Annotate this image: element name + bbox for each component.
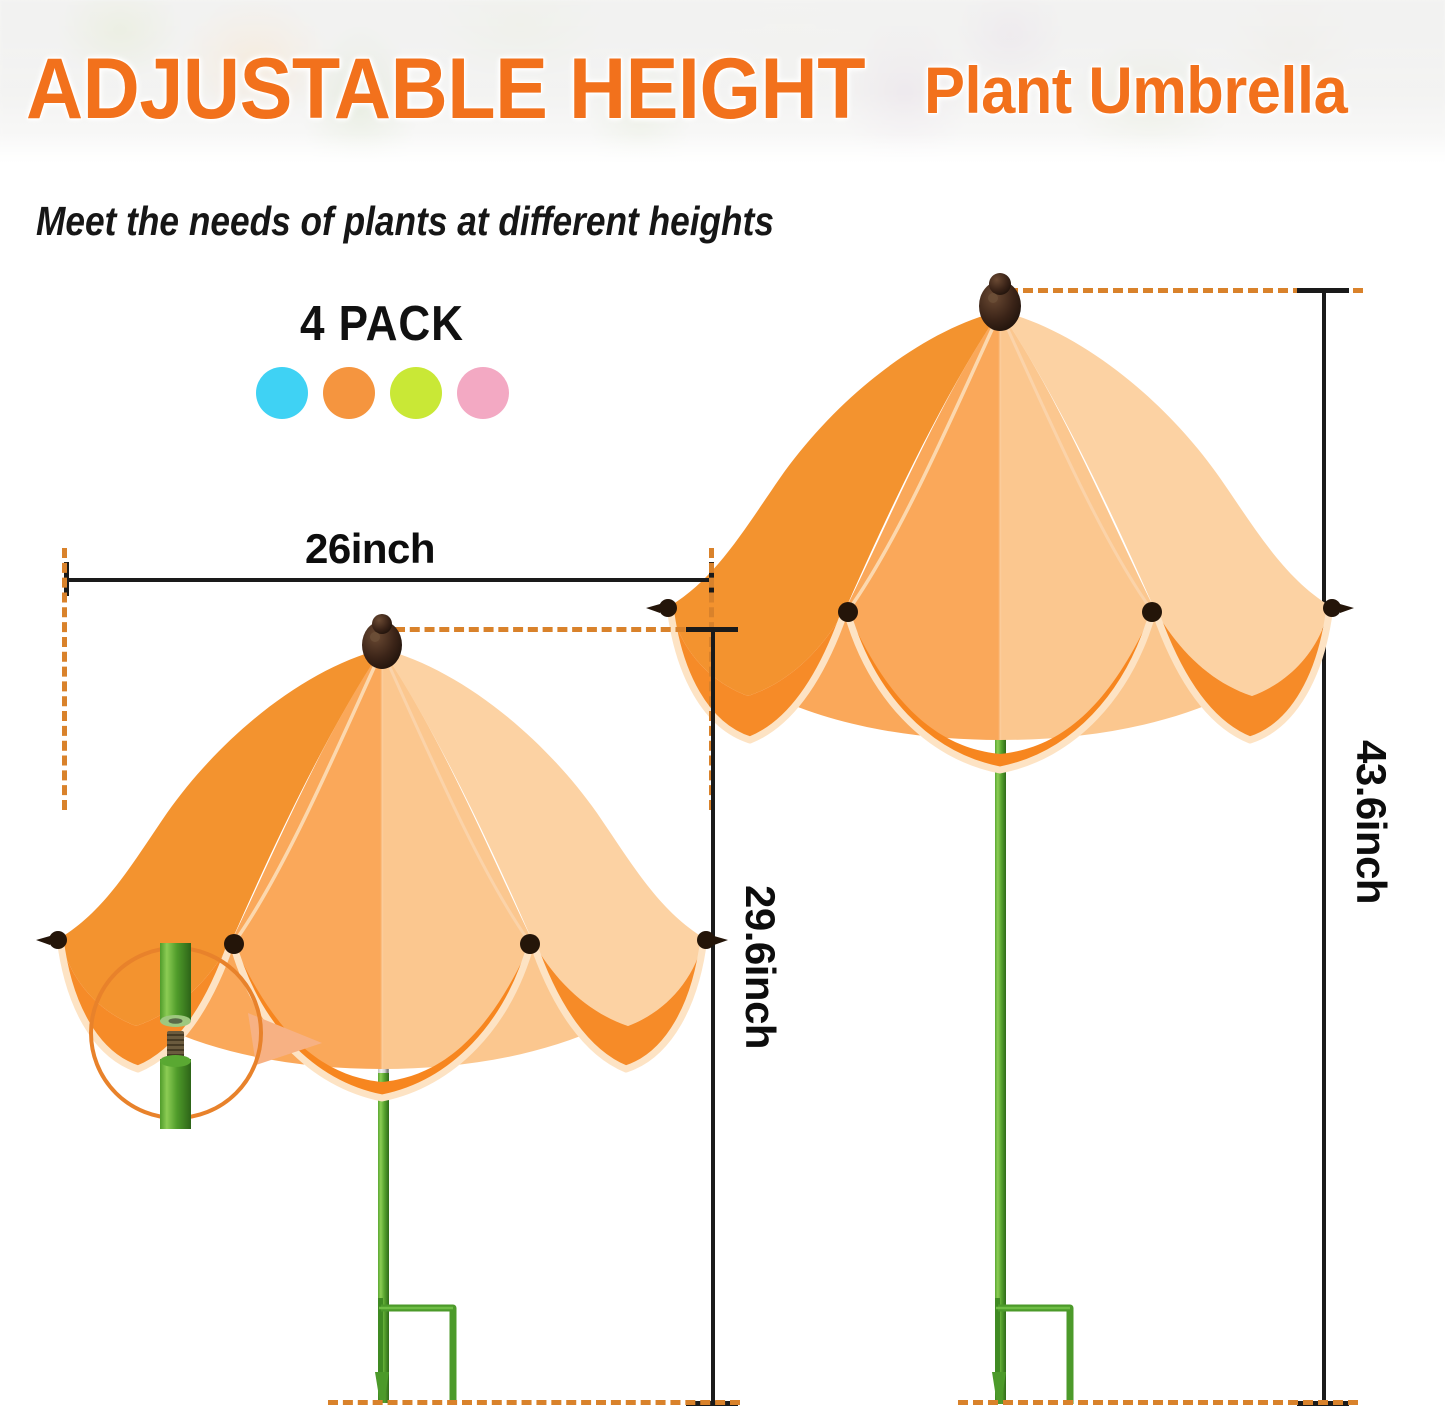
swatch-lime-green	[390, 367, 442, 419]
page-title: ADJUSTABLE HEIGHTPlant Umbrella	[26, 46, 1379, 132]
tall-finial	[979, 273, 1021, 331]
short-finial	[362, 614, 402, 669]
tall-umbrella	[640, 278, 1360, 1418]
swatch-pink	[457, 367, 509, 419]
short-ground-line	[328, 1400, 740, 1405]
title-sub: Plant Umbrella	[924, 57, 1347, 123]
tall-ground-line	[958, 1400, 1358, 1405]
short-height-label: 29.6inch	[736, 885, 784, 1049]
product-infographic: ADJUSTABLE HEIGHTPlant Umbrella Meet the…	[0, 0, 1445, 1423]
width-label: 26inch	[305, 525, 435, 573]
pack-count-label: 4 PACK	[247, 300, 517, 349]
swatch-orange	[323, 367, 375, 419]
pack-block: 4 PACK	[232, 300, 532, 419]
title-main: ADJUSTABLE HEIGHT	[26, 46, 865, 132]
swatch-sky-blue	[256, 367, 308, 419]
pole-connector-detail	[80, 935, 340, 1135]
detail-pole-upper	[160, 943, 191, 1021]
tall-umbrella-svg	[640, 278, 1360, 1418]
color-swatch-row	[232, 367, 532, 419]
tall-canopy	[670, 311, 1330, 770]
width-dimension-line	[64, 578, 712, 582]
subtitle: Meet the needs of plants at different he…	[36, 198, 774, 245]
detail-pole-lower	[160, 1059, 191, 1129]
header-bottom-fade	[0, 134, 1445, 168]
pole-connector-detail-svg	[80, 935, 340, 1130]
